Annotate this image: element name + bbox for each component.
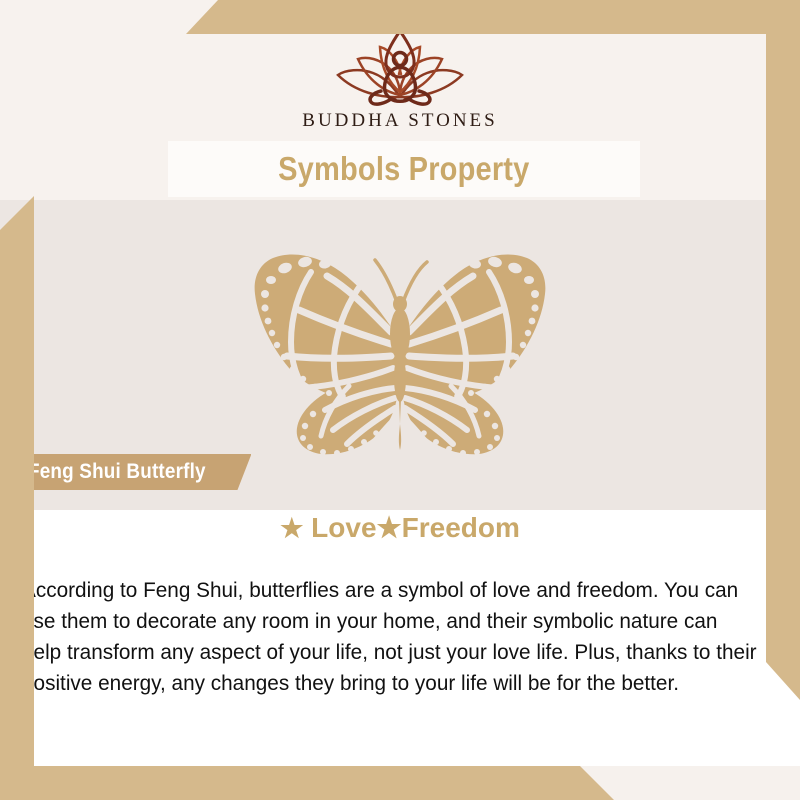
frame-left-band: [0, 196, 34, 800]
subheading-text: Love★Freedom: [303, 512, 519, 543]
lotus-meditation-icon: [325, 22, 475, 106]
star-icon-left: ★: [280, 513, 303, 543]
frame-bottom-band: [0, 766, 800, 800]
title-band: Symbols Property: [168, 141, 640, 197]
brand-wordmark: BUDDHA STONES: [302, 110, 497, 132]
butterfly-icon: [215, 228, 585, 460]
description-paragraph: According to Feng Shui, butterflies are …: [22, 575, 757, 699]
status-badge: Feng Shui Butterfly: [0, 454, 251, 490]
frame-right-band: [766, 0, 800, 700]
subheading: ★ Love★Freedom: [0, 511, 800, 544]
page-title: Symbols Property: [278, 150, 529, 188]
infographic-page: BUDDHA STONES Symbols Property: [0, 0, 800, 800]
brand-logo: BUDDHA STONES: [0, 22, 800, 132]
tag-label: Feng Shui Butterfly: [28, 460, 206, 484]
